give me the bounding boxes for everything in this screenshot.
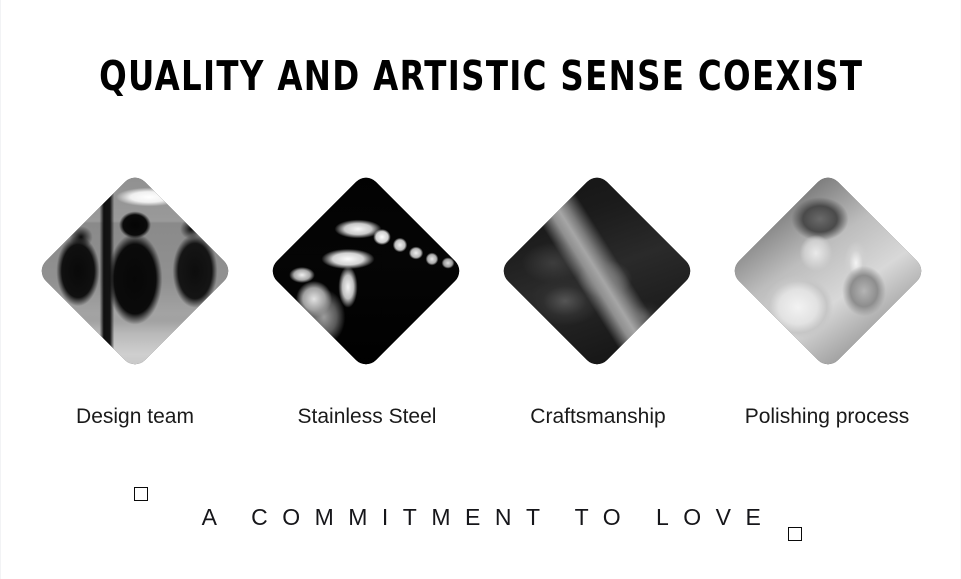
stainless-steel-photo (267, 172, 465, 370)
feature-caption-design-team: Design team (15, 404, 255, 430)
headline-container: QUALITY AND ARTISTIC SENSE COEXIST (1, 54, 961, 98)
feature-caption-craftsmanship: Craftsmanship (478, 404, 718, 430)
feature-caption-stainless-steel: Stainless Steel (247, 404, 487, 430)
tagline-text: A COMMITMENT TO LOVE (188, 503, 776, 531)
missing-glyph-box-top-left (134, 487, 148, 501)
missing-glyph-box-bottom-right (788, 527, 802, 541)
feature-card-stainless-steel[interactable] (267, 172, 464, 369)
diamond-frame (36, 172, 234, 370)
page-title: QUALITY AND ARTISTIC SENSE COEXIST (99, 54, 863, 98)
promo-banner: QUALITY AND ARTISTIC SENSE COEXIST Desig… (0, 0, 961, 579)
diamond-frame (498, 172, 696, 370)
polishing-process-photo (729, 172, 927, 370)
craftsmanship-photo (498, 172, 696, 370)
design-team-photo (36, 172, 234, 370)
diamond-frame (267, 172, 465, 370)
feature-card-polishing-process[interactable] (729, 172, 926, 369)
tagline-container: A COMMITMENT TO LOVE (1, 503, 961, 531)
feature-diamond-row (1, 172, 961, 384)
feature-caption-row: Design team Stainless Steel Craftsmanshi… (1, 404, 961, 434)
feature-card-design-team[interactable] (36, 172, 233, 369)
feature-card-craftsmanship[interactable] (498, 172, 695, 369)
diamond-frame (729, 172, 927, 370)
feature-caption-polishing-process: Polishing process (707, 404, 947, 430)
